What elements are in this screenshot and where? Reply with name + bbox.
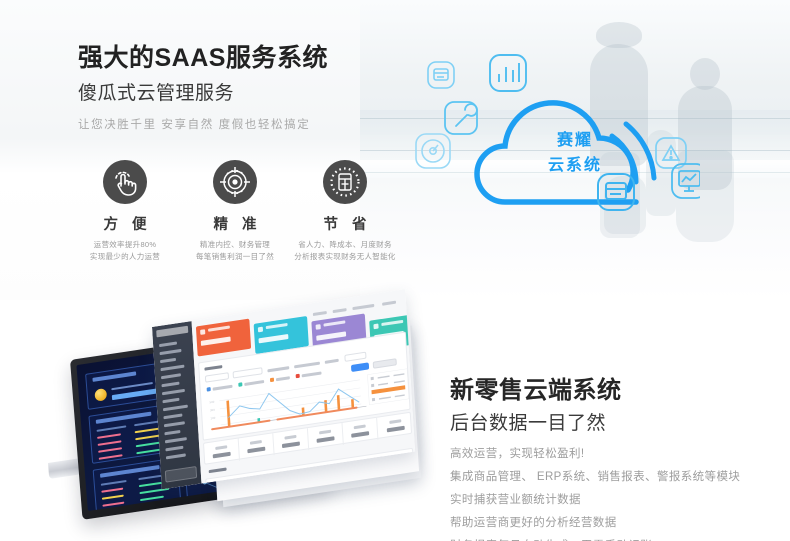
sidebar-item[interactable] [160, 358, 176, 363]
svg-text:100: 100 [210, 416, 215, 421]
target-crosshair-icon [213, 160, 257, 204]
feature-item-accurate: 精 准 精准内控、财务管理 每笔销售利润一目了然 [180, 160, 290, 262]
filter-select[interactable] [233, 367, 263, 378]
sidebar-item[interactable] [161, 373, 181, 379]
feature-line: 省人力、降成本、月度财务 [290, 239, 400, 251]
feature-line: 每笔销售利润一目了然 [180, 251, 290, 263]
filter-label [325, 359, 339, 364]
feature-line: 运营效率提升80% [70, 239, 180, 251]
hand-click-icon [103, 160, 147, 204]
feature-line: 精准内控、财务管理 [180, 239, 290, 251]
cloud-illustration: 赛耀 云系统 [400, 50, 700, 260]
sidebar-item[interactable] [164, 430, 180, 435]
sidebar-item[interactable] [164, 421, 185, 427]
kpi-cell [308, 423, 344, 450]
landing-page: 强大的SAAS服务系统 傻瓜式云管理服务 让您决胜千里 安享自然 度假也轻松搞定 [0, 0, 790, 541]
promo-title: 新零售云端系统 [450, 370, 622, 405]
chart-query-button[interactable] [351, 362, 369, 372]
sidebar-item[interactable] [163, 413, 182, 419]
admin-content: 500300 100 [192, 289, 416, 483]
card-title [204, 365, 222, 371]
legend-label [302, 371, 322, 377]
sidebar-item[interactable] [165, 437, 187, 443]
admin-logo [156, 326, 188, 338]
filter-select[interactable] [344, 352, 366, 362]
svg-text:500: 500 [209, 400, 214, 405]
feature-line: 实现最少的人力运营 [70, 251, 180, 263]
kpi-cell [343, 418, 379, 445]
topnav-item[interactable] [352, 304, 374, 310]
page-title: 强大的SAAS服务系统 [78, 38, 328, 74]
promo-bullet: 集成商品管理、 ERP系统、销售报表、警报系统等模块 [450, 466, 770, 489]
legend-swatch [207, 387, 211, 392]
page-description: 让您决胜千里 安享自然 度假也轻松搞定 [78, 116, 310, 132]
sidebar-item[interactable] [161, 365, 185, 372]
kpi-cell [204, 438, 240, 465]
chart-export-button[interactable] [373, 358, 397, 369]
speedometer-icon [416, 134, 450, 168]
kpi-cell [377, 413, 413, 440]
sidebar-item[interactable] [162, 398, 179, 404]
sidebar-item[interactable] [159, 341, 177, 347]
cloud-label-line2: 云系统 [520, 153, 630, 178]
promo-bullet: 实时捕获营业额统计数据 [450, 489, 770, 512]
cloud-label-line1: 赛耀 [520, 128, 630, 153]
filter-select[interactable] [205, 372, 229, 383]
dashboard-mockup: 500300 100 [62, 305, 412, 541]
save-coin-icon [323, 160, 367, 204]
promo-bullet-list: 高效运营，实现轻松盈利! 集成商品管理、 ERP系统、销售报表、警报系统等模块 … [450, 443, 770, 541]
feature-list: 方 便 运营效率提升80% 实现最少的人力运营 [70, 160, 400, 260]
feature-item-convenient: 方 便 运营效率提升80% 实现最少的人力运营 [70, 160, 180, 262]
svg-text:300: 300 [210, 408, 215, 413]
topnav-item[interactable] [382, 301, 396, 306]
feature-name: 节 省 [290, 213, 400, 234]
monitor-chart-icon [672, 164, 700, 198]
stat-card[interactable] [196, 319, 251, 357]
cloud-label: 赛耀 云系统 [520, 128, 630, 178]
topnav-item[interactable] [313, 311, 327, 316]
sidebar-item[interactable] [165, 446, 183, 452]
page-subtitle: 傻瓜式云管理服务 [78, 78, 234, 105]
sidebar-footer-badge[interactable] [165, 466, 197, 483]
filter-label [267, 366, 289, 372]
feature-item-saving: 节 省 省人力、降成本、月度财务 分析报表实现财务无人智能化 [290, 160, 400, 262]
sidebar-item[interactable] [162, 389, 185, 395]
filter-label [294, 362, 320, 369]
hero-section: 强大的SAAS服务系统 傻瓜式云管理服务 让您决胜千里 安享自然 度假也轻松搞定 [0, 0, 790, 300]
wrench-icon [445, 102, 477, 134]
sidebar-item[interactable] [161, 382, 179, 388]
legend-swatch [270, 378, 274, 383]
promo-bullet: 高效运营，实现轻松盈利! [450, 443, 770, 466]
feature-name: 方 便 [70, 213, 180, 234]
bar-chart-icon [490, 55, 526, 91]
promo-bullet: 帮助运营商更好的分析经营数据 [450, 512, 770, 535]
legend-swatch [238, 382, 242, 387]
legend-swatch [296, 374, 300, 379]
sidebar-item[interactable] [160, 349, 182, 355]
section-title [209, 468, 227, 474]
kpi-cell [239, 433, 275, 460]
promo-bullet: 财务报表每月自动生成，无需手动记账 [450, 535, 770, 541]
kpi-cell [273, 428, 309, 455]
sidebar-item[interactable] [163, 405, 188, 412]
promo-subtitle: 后台数据一目了然 [450, 408, 606, 435]
sidebar-item[interactable] [166, 453, 186, 459]
feature-name: 精 准 [180, 213, 290, 234]
legend-label [213, 385, 233, 391]
legend-label [244, 380, 264, 386]
archive-box-icon [428, 62, 454, 88]
topnav-item[interactable] [333, 308, 347, 313]
legend-label [276, 376, 290, 381]
feature-line: 分析报表实现财务无人智能化 [290, 251, 400, 263]
